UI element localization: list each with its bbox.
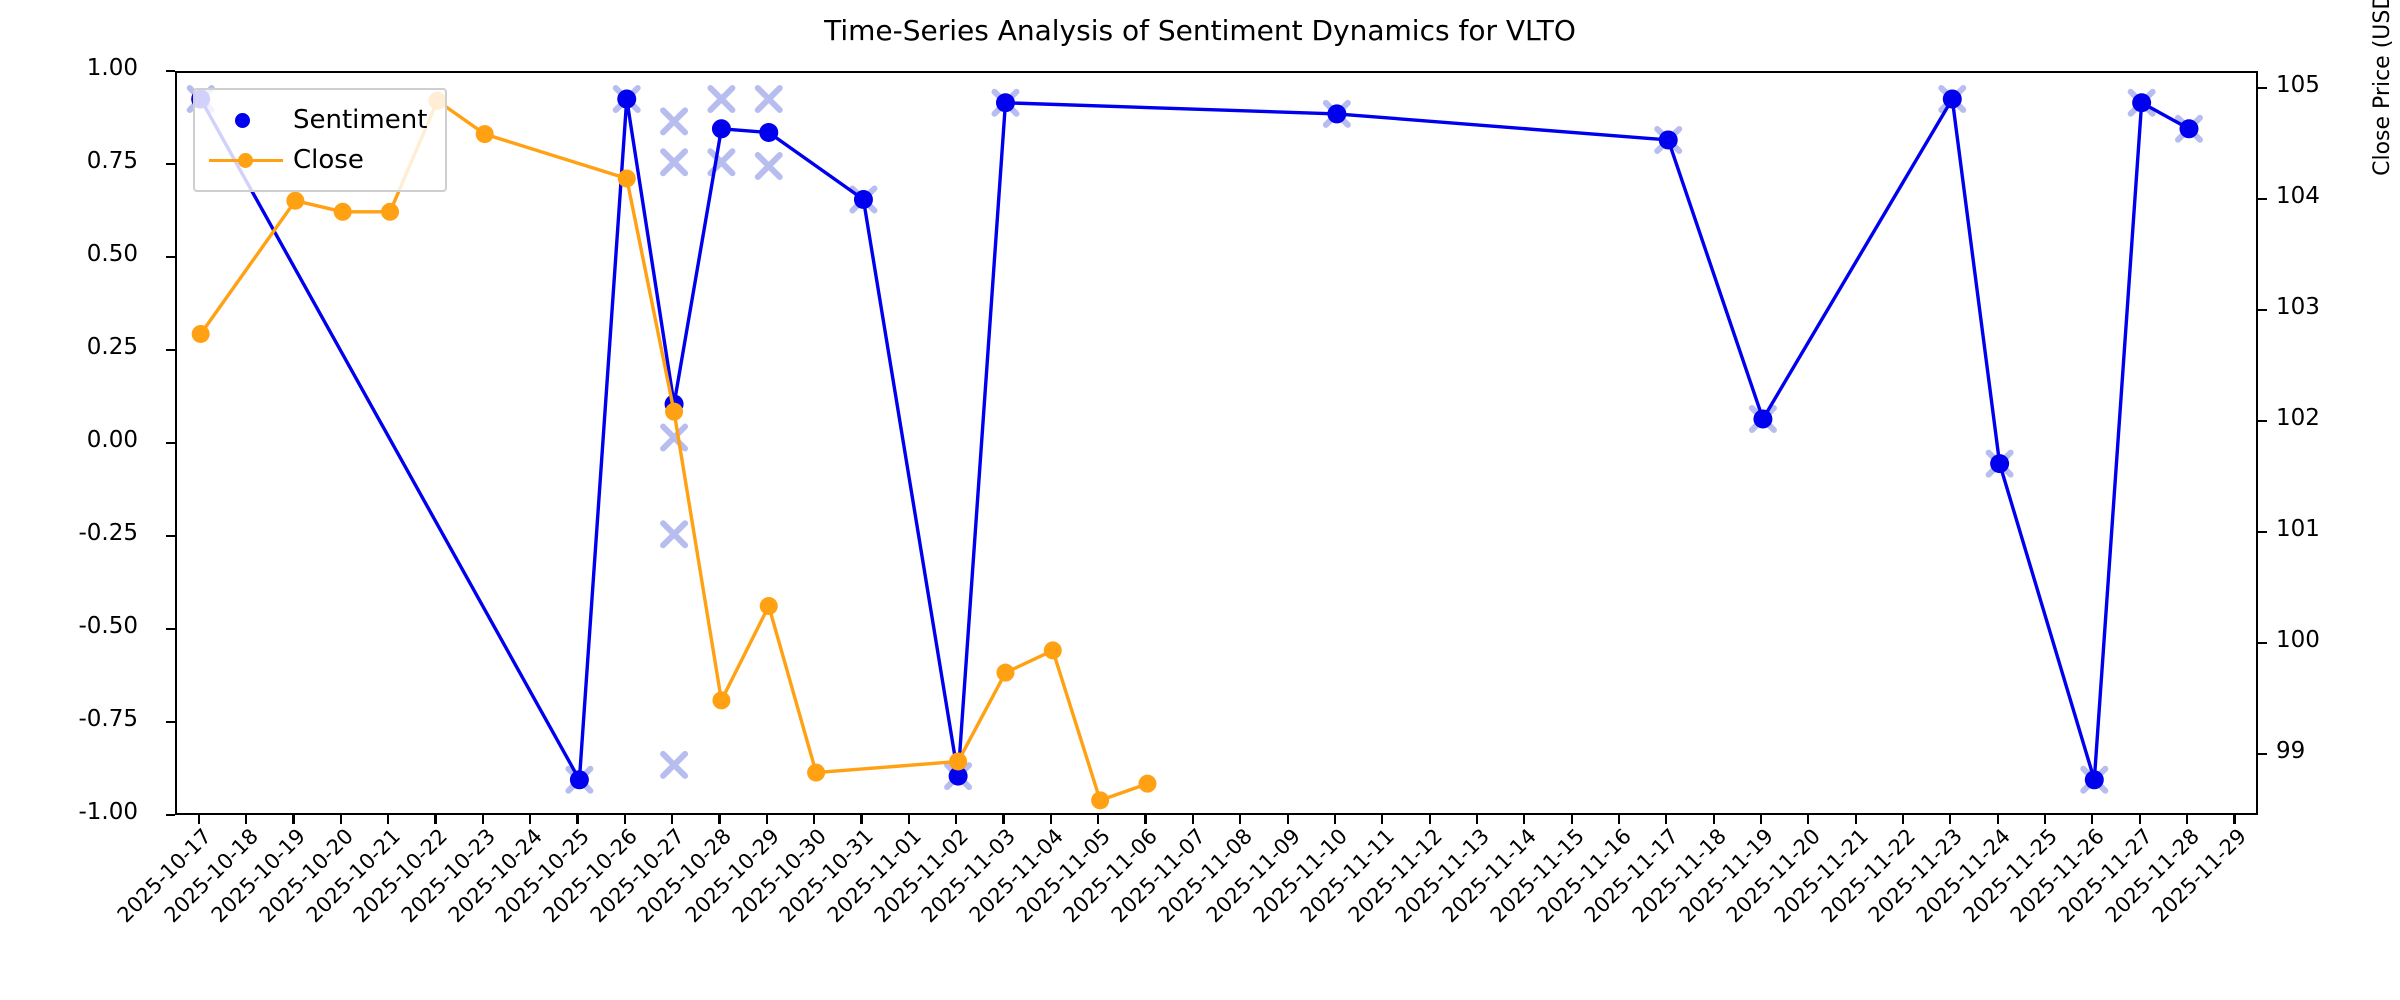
data-point-sentiment: [1990, 454, 2009, 473]
scatter-x-marker: [663, 151, 685, 173]
y-tick-mark-left: [166, 814, 175, 816]
scatter-x-marker: [663, 427, 685, 449]
series-line-sentiment: [201, 99, 2189, 780]
y-axis-label-right: Close Price (USD): [2370, 0, 2395, 290]
data-point-sentiment: [759, 123, 778, 142]
y-tick-label-left: -0.75: [8, 706, 138, 732]
y-tick-label-left: 0.50: [8, 241, 138, 267]
chart-figure: Time-Series Analysis of Sentiment Dynami…: [0, 0, 2400, 1000]
y-tick-mark-left: [166, 70, 175, 72]
y-tick-mark-left: [166, 256, 175, 258]
data-point-sentiment: [2085, 770, 2104, 789]
data-point-sentiment: [2132, 93, 2151, 112]
y-tick-label-left: 0.00: [8, 427, 138, 453]
data-point-close: [1091, 791, 1109, 809]
plot-canvas: [177, 73, 2260, 817]
y-tick-label-right: 100: [2276, 627, 2396, 653]
y-tick-label-right: 105: [2276, 72, 2396, 98]
legend-marker-dot-icon: [209, 109, 283, 131]
y-tick-mark-left: [166, 442, 175, 444]
data-point-sentiment: [1943, 90, 1962, 109]
data-point-close: [618, 169, 636, 187]
data-point-close: [1138, 775, 1156, 793]
scatter-x-marker: [758, 155, 780, 177]
data-point-close: [665, 403, 683, 421]
y-tick-mark-left: [166, 628, 175, 630]
y-tick-label-right: 103: [2276, 294, 2396, 320]
data-point-close: [712, 691, 730, 709]
scatter-x-marker: [663, 754, 685, 776]
y-tick-label-left: -0.25: [8, 520, 138, 546]
data-point-close: [476, 125, 494, 143]
legend-label-close: Close: [293, 145, 364, 175]
y-tick-label-left: -0.50: [8, 613, 138, 639]
y-tick-label-left: -1.00: [8, 799, 138, 825]
data-point-sentiment: [996, 93, 1015, 112]
y-tick-label-left: 1.00: [8, 55, 138, 81]
data-point-sentiment: [854, 190, 873, 209]
data-point-sentiment: [1753, 409, 1772, 428]
chart-title: Time-Series Analysis of Sentiment Dynami…: [0, 14, 2400, 47]
data-point-sentiment: [1327, 104, 1346, 123]
legend-label-sentiment: Sentiment: [293, 105, 427, 135]
data-point-sentiment: [1659, 130, 1678, 149]
y-tick-mark-left: [166, 349, 175, 351]
y-tick-label-right: 101: [2276, 516, 2396, 542]
legend-item-close: Close: [209, 140, 427, 180]
y-tick-label-right: 102: [2276, 405, 2396, 431]
scatter-x-marker: [663, 523, 685, 545]
y-tick-label-left: 0.25: [8, 334, 138, 360]
data-point-close: [807, 764, 825, 782]
plot-area: [175, 71, 2258, 815]
data-point-close: [996, 664, 1014, 682]
data-point-close: [949, 752, 967, 770]
y-tick-label-left: 0.75: [8, 148, 138, 174]
data-point-close: [286, 192, 304, 210]
data-point-sentiment: [2179, 119, 2198, 138]
y-tick-label-right: 104: [2276, 183, 2396, 209]
scatter-x-marker: [758, 88, 780, 110]
data-point-sentiment: [570, 770, 589, 789]
data-point-sentiment: [617, 90, 636, 109]
y-tick-mark-left: [166, 535, 175, 537]
data-point-close: [760, 597, 778, 615]
data-point-close: [1044, 641, 1062, 659]
y-tick-mark-left: [166, 163, 175, 165]
data-point-sentiment: [712, 119, 731, 138]
data-point-close: [381, 203, 399, 221]
chart-legend: Sentiment Close: [193, 88, 447, 192]
data-point-close: [334, 203, 352, 221]
legend-marker-line-icon: [209, 149, 283, 171]
scatter-x-marker: [663, 110, 685, 132]
data-point-close: [192, 325, 210, 343]
y-tick-mark-left: [166, 721, 175, 723]
y-tick-label-right: 99: [2276, 738, 2396, 764]
legend-item-sentiment: Sentiment: [209, 100, 427, 140]
scatter-x-marker: [710, 88, 732, 110]
